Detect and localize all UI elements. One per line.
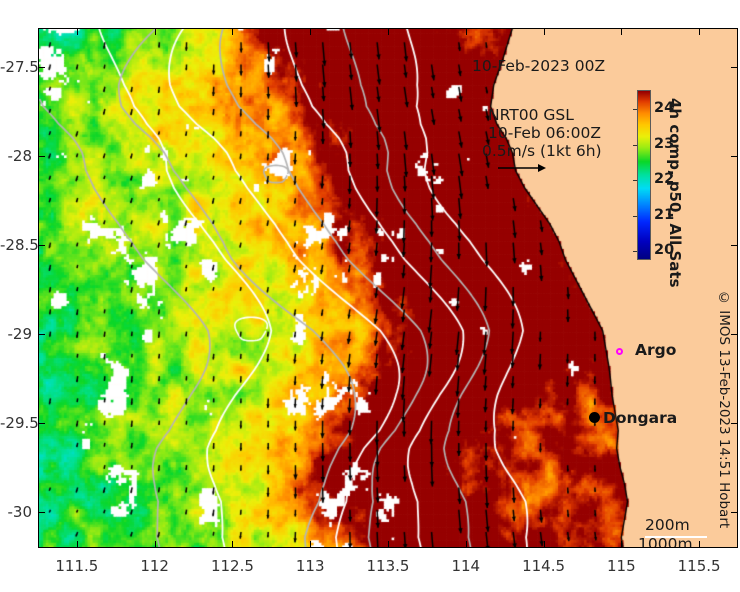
colorbar-tick-label: 22 xyxy=(654,171,674,187)
x-tick xyxy=(155,28,156,35)
y-tick xyxy=(38,67,45,68)
colorbar-tick xyxy=(633,216,637,217)
y-tick xyxy=(731,512,738,513)
x-axis-label: 112.5 xyxy=(192,557,272,575)
x-tick xyxy=(388,28,389,35)
source-product-label: NRT00 GSL xyxy=(488,106,574,124)
x-tick xyxy=(310,541,311,548)
x-axis-label: 115 xyxy=(581,557,661,575)
map-plot-area[interactable]: 10-Feb-2023 00Z NRT00 GSL 10-Feb 06:00Z … xyxy=(38,28,738,548)
sst-map-figure: 10-Feb-2023 00Z NRT00 GSL 10-Feb 06:00Z … xyxy=(0,0,740,592)
x-axis-label: 115.5 xyxy=(659,557,739,575)
x-tick xyxy=(155,541,156,548)
colorbar-title: 4h comp, p50, All Sats xyxy=(666,98,684,288)
y-axis-label: -29.5 xyxy=(0,414,32,432)
x-tick xyxy=(232,28,233,35)
x-tick xyxy=(77,541,78,548)
y-axis-label: -29 xyxy=(0,325,32,343)
x-tick xyxy=(621,28,622,35)
y-tick xyxy=(731,245,738,246)
x-axis-label: 113 xyxy=(270,557,350,575)
x-axis-label: 113.5 xyxy=(348,557,428,575)
reference-arrow-icon xyxy=(496,161,548,175)
x-axis-label: 114 xyxy=(426,557,506,575)
y-axis-label: -27.5 xyxy=(0,58,32,76)
y-tick xyxy=(38,423,45,424)
argo-legend-label: Argo xyxy=(635,341,676,359)
x-tick xyxy=(621,541,622,548)
map-date-title: 10-Feb-2023 00Z xyxy=(472,57,605,75)
x-tick xyxy=(699,541,700,548)
colorbar-tick-label: 23 xyxy=(654,136,674,152)
y-axis-label: -30 xyxy=(0,503,32,521)
x-tick xyxy=(544,541,545,548)
colorbar-tick-label: 20 xyxy=(654,242,674,258)
y-tick xyxy=(38,512,45,513)
x-tick xyxy=(77,28,78,35)
x-tick xyxy=(466,28,467,35)
x-axis-label: 112 xyxy=(115,557,195,575)
x-axis-label: 111.5 xyxy=(37,557,117,575)
vector-scale-label: 0.5m/s (1kt 6h) xyxy=(482,142,602,160)
colorbar-gradient xyxy=(637,90,651,260)
argo-legend-marker-icon xyxy=(616,348,623,355)
x-tick xyxy=(544,28,545,35)
colorbar-tick-label: 24 xyxy=(654,100,674,116)
y-tick xyxy=(38,334,45,335)
y-tick xyxy=(38,245,45,246)
y-tick xyxy=(731,334,738,335)
colorbar-tick xyxy=(633,180,637,181)
x-tick xyxy=(310,28,311,35)
y-axis-label: -28 xyxy=(0,147,32,165)
y-tick xyxy=(731,423,738,424)
colorbar-tick xyxy=(633,145,637,146)
depth-1000m-label: 1000m xyxy=(638,535,693,548)
y-axis-label: -28.5 xyxy=(0,236,32,254)
depth-200m-label: 200m xyxy=(645,516,690,534)
y-tick xyxy=(731,67,738,68)
colorbar-tick-label: 21 xyxy=(654,207,674,223)
x-axis-label: 114.5 xyxy=(504,557,584,575)
colorbar-tick xyxy=(633,109,637,110)
colorbar-tick xyxy=(633,251,637,252)
y-tick xyxy=(38,156,45,157)
source-time-label: 10-Feb 06:00Z xyxy=(488,124,601,142)
x-tick xyxy=(232,541,233,548)
contour-and-vector-layer xyxy=(38,28,738,548)
copyright-notice: © IMOS 13-Feb-2023 14:51 Hobart xyxy=(716,290,732,528)
x-tick xyxy=(699,28,700,35)
x-tick xyxy=(466,541,467,548)
dongara-town-marker-icon xyxy=(589,412,600,423)
x-tick xyxy=(388,541,389,548)
y-tick xyxy=(731,156,738,157)
dongara-town-label: Dongara xyxy=(603,409,677,427)
